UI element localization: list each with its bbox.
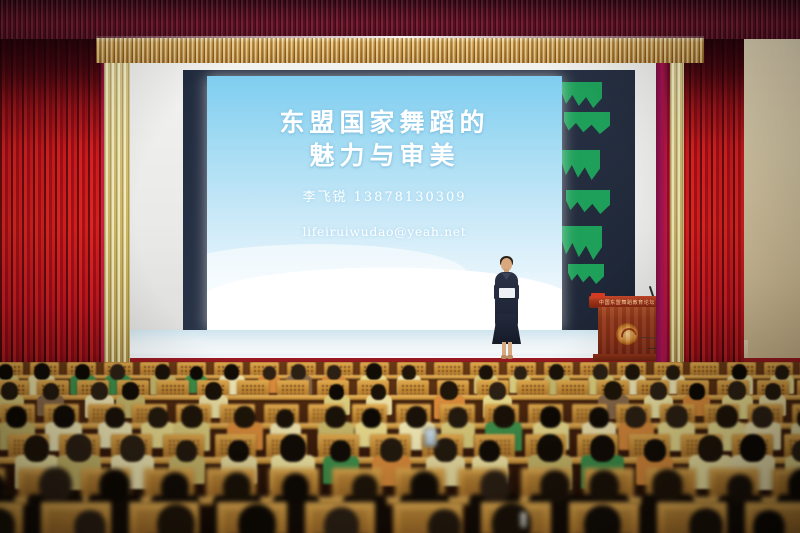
- audience-member-head: [728, 381, 746, 400]
- audience-member-head: [43, 383, 59, 400]
- audience-member-head: [652, 469, 683, 502]
- audience-member-head: [604, 381, 622, 400]
- audience-member-head: [157, 504, 195, 533]
- audience-member-head: [434, 438, 457, 462]
- audience-member-head: [644, 439, 666, 462]
- green-chalkboard: [562, 78, 616, 288]
- audience-member-head: [352, 474, 378, 502]
- audience-member-head: [689, 508, 723, 533]
- chalkboard-splash: [562, 150, 600, 180]
- chalkboard-splash: [566, 190, 610, 214]
- audience-member-head: [590, 435, 615, 462]
- audience-member-head: [410, 471, 439, 502]
- audience-member-head: [479, 365, 493, 380]
- audience-member-head: [666, 365, 680, 380]
- audience-member-head: [66, 434, 92, 462]
- audience-member-head: [448, 407, 468, 428]
- audience-member-head: [176, 440, 197, 462]
- chalkboard-splash: [564, 112, 610, 134]
- audience-member-head: [190, 366, 203, 380]
- slide-title: 东盟国家舞蹈的 魅力与审美: [207, 106, 562, 172]
- audience-member-head: [238, 504, 276, 533]
- audience-member-head: [110, 364, 125, 380]
- valance-gold-pleated: [96, 38, 704, 63]
- audience-member-head: [362, 408, 381, 428]
- auditorium-scene: 东盟国家舞蹈的 魅力与审美 李飞锐 13878130309 lifeiruiwu…: [0, 0, 800, 533]
- audience-member-head: [105, 407, 125, 428]
- audience-member-head: [327, 365, 341, 380]
- slide-presenter-line: 李飞锐 13878130309: [207, 186, 562, 205]
- audience-member-head: [479, 440, 500, 462]
- audience-member-head: [99, 469, 130, 502]
- audience-member-head: [489, 382, 506, 400]
- audience-member-head: [39, 467, 72, 502]
- audience-member-head: [650, 382, 667, 400]
- audience-member-head: [406, 406, 427, 428]
- audience-member-head: [330, 440, 351, 462]
- audience-member-head: [625, 364, 640, 380]
- audience-member-head: [205, 382, 222, 400]
- audience-member-head: [181, 405, 203, 428]
- audience-member-head: [75, 364, 90, 380]
- audience-member-head: [161, 472, 189, 502]
- audience-member-head: [380, 438, 403, 462]
- audience-member-head: [727, 474, 753, 502]
- audience-member-head: [549, 364, 564, 380]
- audience-member-head: [540, 470, 570, 502]
- audience-member-head: [740, 434, 766, 462]
- chalkboard-splash: [562, 82, 602, 108]
- audience-member-head: [325, 406, 346, 428]
- audience-member-head: [593, 364, 608, 380]
- spiral-emblem-icon: [616, 323, 638, 345]
- audience-member-head: [371, 384, 386, 400]
- audience-member-head: [223, 472, 251, 502]
- audience-member-head: [1, 382, 18, 400]
- audience-member-head: [224, 364, 239, 380]
- audience-member-head: [0, 364, 13, 380]
- curtain-left: [0, 24, 116, 372]
- speaker-figure: [489, 258, 523, 360]
- audience-member-head: [402, 365, 416, 380]
- audience-member-head: [589, 407, 609, 428]
- raised-phone: [424, 428, 437, 447]
- audience-member-head: [148, 407, 168, 428]
- audience-member-head: [276, 409, 294, 428]
- audience-member-head: [480, 470, 510, 502]
- slide-title-line2: 魅力与审美: [207, 139, 562, 172]
- audience-member-head: [280, 434, 306, 462]
- audience-member-head: [689, 383, 705, 400]
- audience-member-head: [589, 470, 619, 502]
- audience-member-head: [537, 434, 563, 462]
- chalkboard-splash: [562, 226, 602, 260]
- water-bottle: [520, 512, 527, 528]
- audience-member-head: [514, 366, 527, 380]
- audience-member-head: [752, 406, 773, 428]
- audience-member-head: [732, 364, 747, 380]
- gold-curtain-right: [670, 34, 684, 364]
- speaker-leg-left: [502, 342, 506, 356]
- audience-member-head: [792, 440, 800, 462]
- audience-member-head: [122, 382, 139, 400]
- audience-member-head: [716, 405, 738, 428]
- audience-member-head: [584, 505, 621, 533]
- audience-member-head: [698, 435, 723, 462]
- speaker-leg-right: [508, 342, 512, 356]
- audience-member-head: [234, 406, 255, 428]
- audience-member-head: [91, 382, 108, 400]
- audience-member-head: [282, 473, 309, 502]
- audience-member-head: [24, 435, 49, 462]
- wall-right-cream: [742, 0, 800, 372]
- audience-member-head: [775, 365, 789, 380]
- audience-member-head: [493, 405, 515, 428]
- audience-row: [0, 502, 800, 533]
- slide-title-line1: 东盟国家舞蹈的: [207, 106, 562, 139]
- audience-member-head: [228, 440, 249, 462]
- audience-member-head: [765, 383, 781, 400]
- valance-upper: [0, 0, 800, 39]
- audience-member-head: [291, 364, 306, 380]
- chalkboard-splash: [568, 264, 604, 284]
- audience-member-head: [324, 507, 359, 533]
- slide-email-line: lifeiruiwudao@yeah.net: [207, 224, 562, 239]
- audience-member-head: [366, 363, 382, 380]
- audience-member-head: [329, 384, 344, 400]
- audience-member-head: [666, 405, 688, 428]
- speaker-notes: [499, 288, 515, 298]
- audience-area: [0, 362, 800, 533]
- gold-curtain-left: [104, 34, 130, 364]
- audience-member-head: [540, 406, 561, 428]
- audience-member-head: [34, 363, 50, 380]
- audience-member-head: [6, 406, 27, 428]
- audience-member-head: [263, 366, 276, 380]
- audience-member-head: [155, 364, 170, 380]
- audience-member-head: [53, 405, 75, 428]
- speaker-shoe-right: [507, 355, 513, 359]
- audience-member-head: [120, 435, 145, 462]
- audience-member-head: [440, 381, 458, 400]
- audience-member-head: [625, 406, 646, 428]
